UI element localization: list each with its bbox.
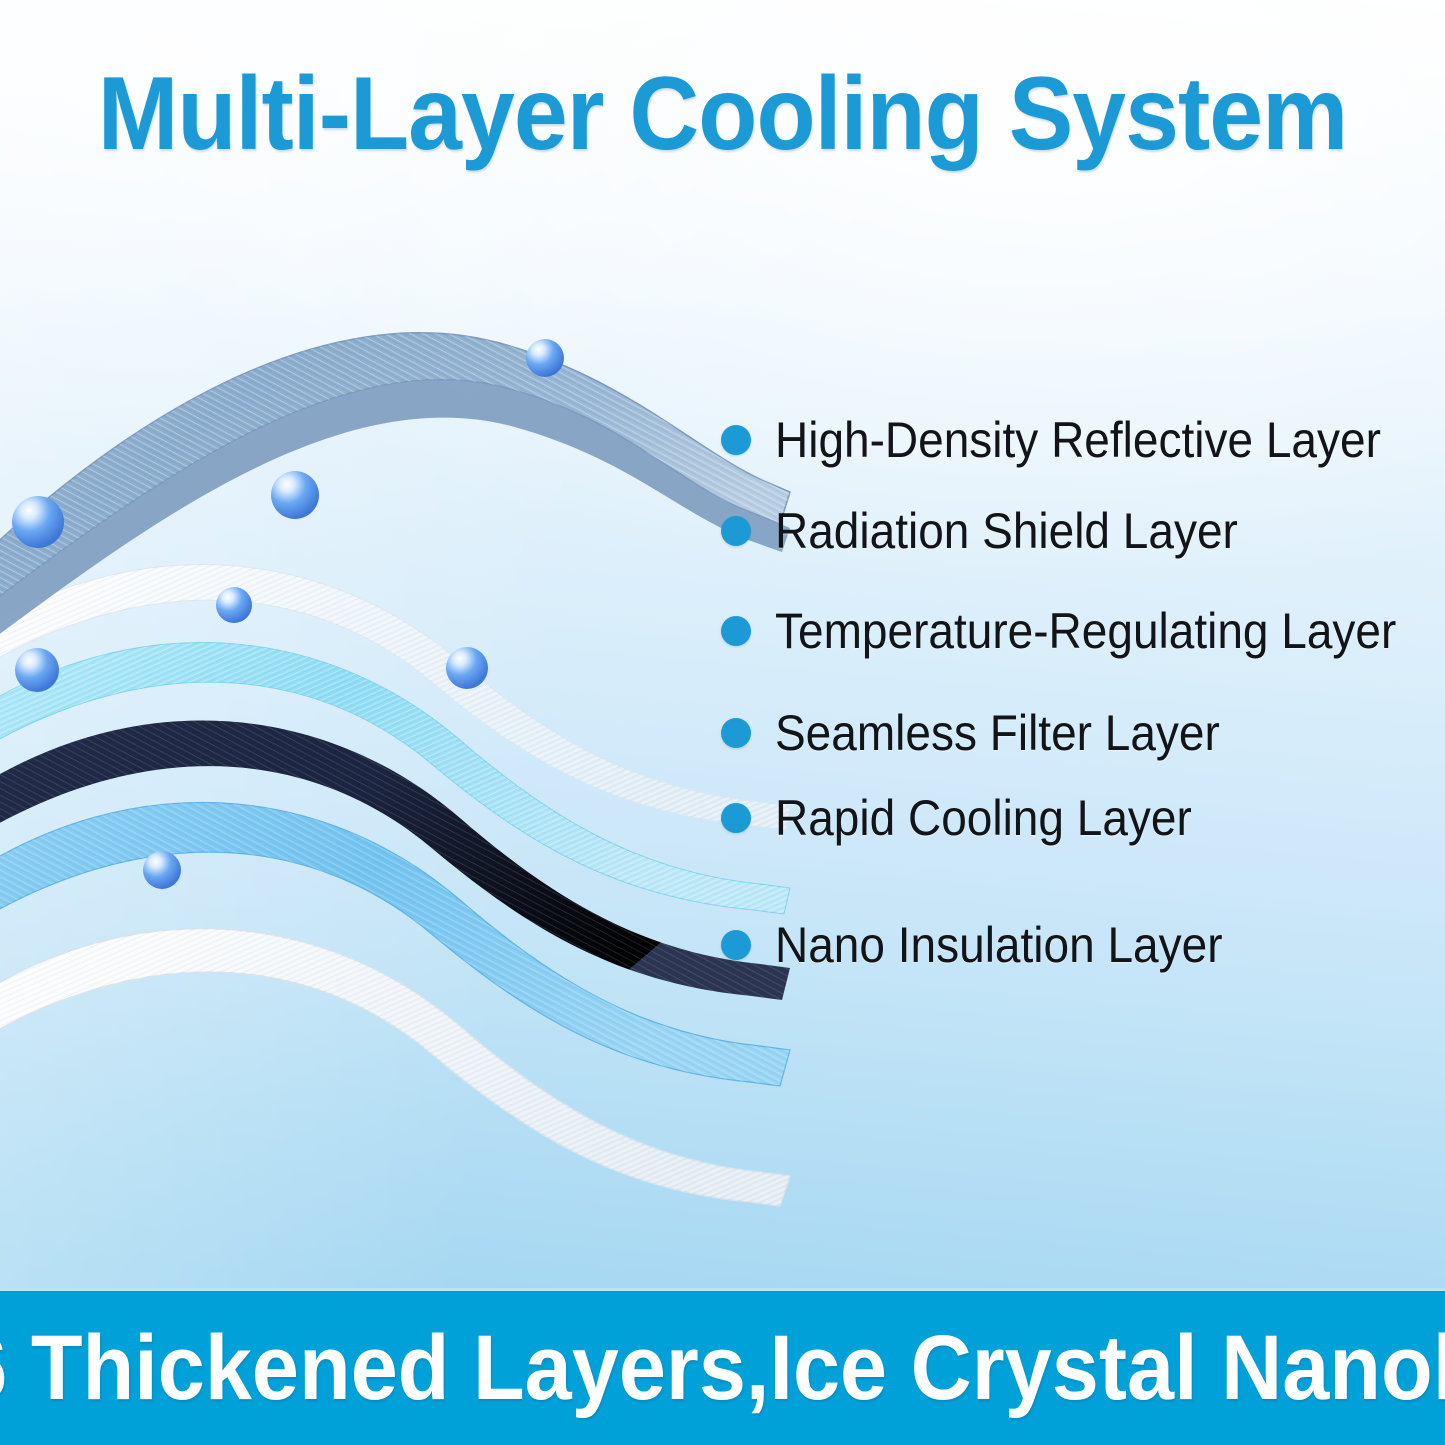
bullet-dot-icon [721,425,751,455]
bullet-dot-icon [721,516,751,546]
layer-label-radiation-shield: Radiation Shield Layer [775,506,1238,556]
layer-label-high-density-reflective: High-Density Reflective Layer [775,415,1381,465]
layer-label-temperature-regulating: Temperature-Regulating Layer [775,606,1396,656]
banner-headline: 6 Thickened Layers,Ice Crystal Nanoh [0,1322,1445,1414]
bullet-dot-icon [721,930,751,960]
product-infographic: Multi-Layer Cooling System [0,0,1445,1445]
bullet-dot-icon [721,803,751,833]
bullet-dot-icon [721,616,751,646]
bottom-banner: 6 Thickened Layers,Ice Crystal Nanoh [0,1288,1445,1445]
layer-label-row-1: High-Density Reflective Layer [721,415,1434,465]
layer-label-nano-insulation: Nano Insulation Layer [775,920,1223,970]
bullet-dot-icon [721,718,751,748]
layer-label-seamless-filter: Seamless Filter Layer [775,708,1220,758]
layer-label-row-6: Nano Insulation Layer [721,920,1261,970]
layer-label-row-3: Temperature-Regulating Layer [721,606,1445,656]
layer-label-row-2: Radiation Shield Layer [721,506,1278,556]
page-title: Multi-Layer Cooling System [51,62,1395,166]
layer-label-row-5: Rapid Cooling Layer [721,793,1228,843]
layer-label-row-4: Seamless Filter Layer [721,708,1259,758]
layer-label-rapid-cooling: Rapid Cooling Layer [775,793,1192,843]
